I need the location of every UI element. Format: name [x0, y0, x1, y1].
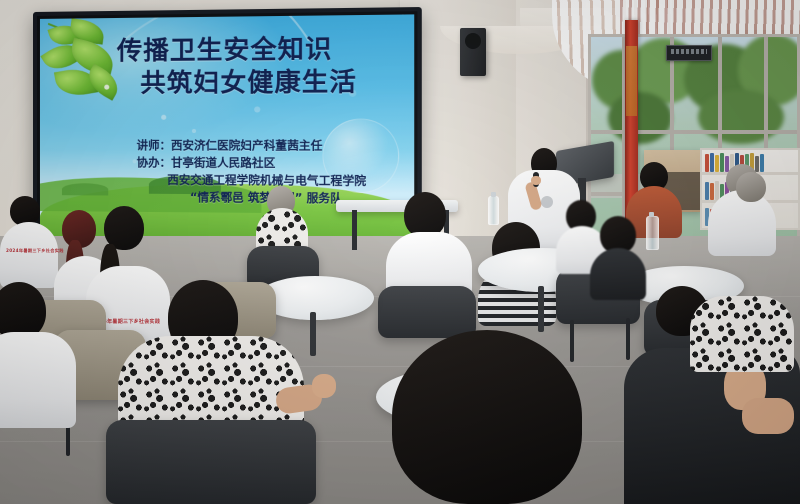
attendee-head	[392, 330, 582, 504]
attendee-head	[736, 172, 766, 202]
chair-leg	[570, 320, 574, 362]
water-bottle	[488, 196, 499, 225]
slide-title: 传播卫生安全知识 共筑妇女健康生活	[40, 32, 414, 99]
chair	[106, 420, 316, 504]
volunteer-shirt	[0, 332, 76, 428]
volunteer-shirt: 2024年暑期三下乡社会实践	[0, 222, 58, 288]
volunteer-shirt-text: 2024年暑期三下乡社会实践	[6, 248, 64, 254]
slide-detail-coorganizer: 协办：甘亭街道人民路社区	[137, 156, 276, 170]
photo-scene: 传播卫生安全知识 共筑妇女健康生活 讲师：西安济仁医院妇产科董茜主任 协办：甘亭…	[0, 0, 800, 504]
slide-title-line-1: 传播卫生安全知识	[117, 34, 333, 65]
red-column-banner	[626, 46, 637, 116]
slide-bokeh	[192, 129, 196, 133]
table-leg	[538, 286, 544, 332]
attendee-arm	[742, 398, 794, 434]
ceiling-speaker-icon	[460, 28, 486, 76]
slide-bokeh	[161, 115, 166, 120]
slide-detail-lecturer: 讲师：西安济仁医院妇产科董茜主任	[137, 139, 323, 153]
coat-badge	[541, 196, 553, 208]
attendee-hand	[312, 374, 336, 398]
presenter-hand	[531, 176, 541, 185]
slide-detail-college: 西安交通工程学院机械与电气工程学院	[137, 171, 404, 190]
front-table-leg	[352, 210, 357, 250]
chair	[378, 286, 476, 338]
wall-sign	[666, 45, 712, 61]
slide: 传播卫生安全知识 共筑妇女健康生活 讲师：西安济仁医院妇产科董茜主任 协办：甘亭…	[40, 14, 414, 249]
table-leg	[310, 312, 316, 356]
slide-title-line-2: 共筑妇女健康生活	[40, 65, 414, 99]
attendee-top	[590, 248, 646, 300]
water-bottle	[646, 216, 659, 250]
attendee-top	[690, 296, 794, 372]
chair-leg	[626, 318, 630, 360]
slide-bokeh	[254, 106, 260, 112]
